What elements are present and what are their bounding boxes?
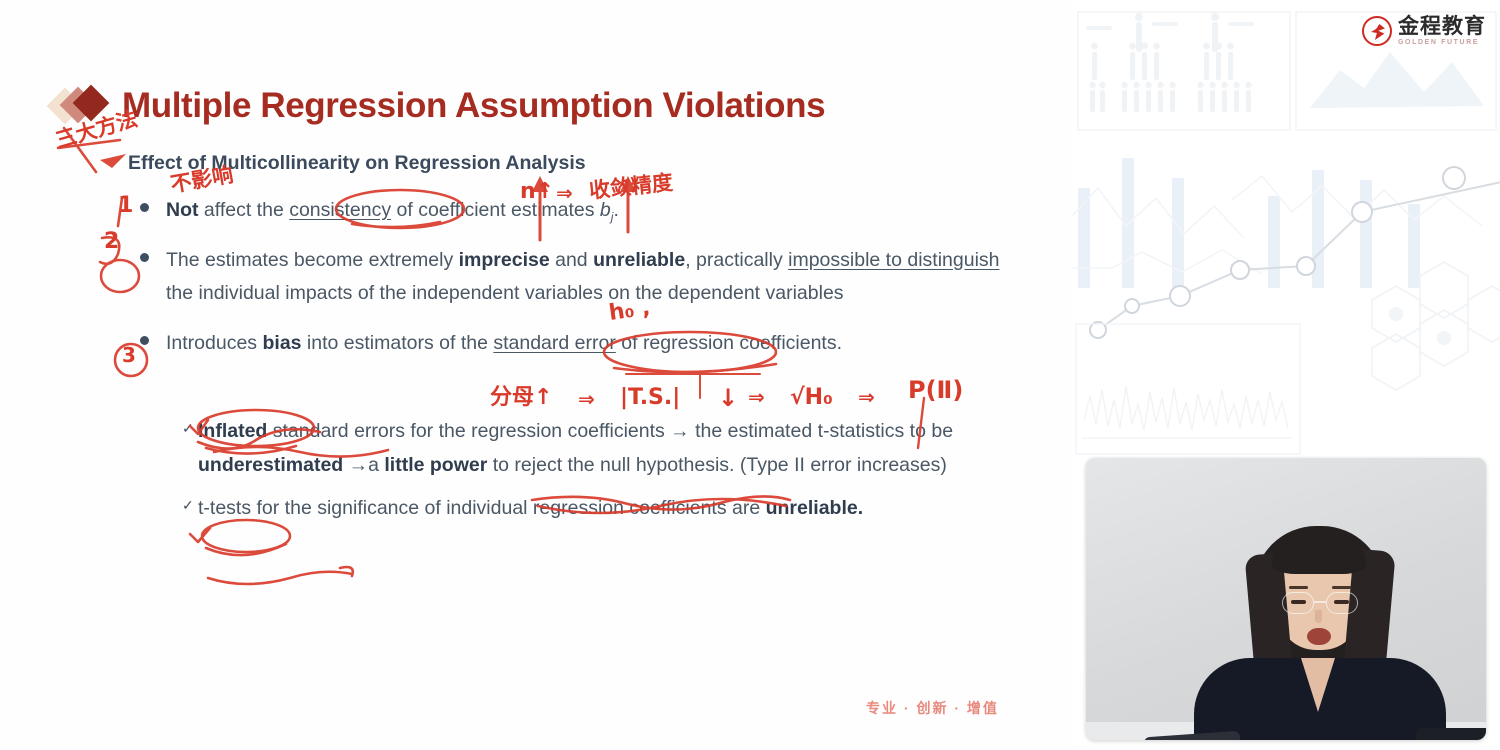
right-side-panel: 金程教育 GOLDEN FUTURE (1072, 0, 1500, 750)
sub-bullet-list: ✓Inflated standard errors for the regres… (198, 414, 998, 533)
presenter-eyebrow-left (1289, 586, 1308, 589)
presentation-slide: Multiple Regression Assumption Violation… (0, 0, 1072, 750)
title-diamond-bullet-icon (52, 88, 116, 124)
desk-object-right (1416, 728, 1486, 740)
footer-tagline: 专业 · 创新 · 增值 (866, 698, 999, 718)
presenter-fringe (1272, 534, 1366, 574)
bullet-dot-icon (140, 253, 149, 262)
section-heading: Effect of Multicollinearity on Regressio… (128, 152, 586, 175)
bullet-imprecise: The estimates become extremely imprecise… (140, 244, 1020, 311)
ann-num-2: 2 (104, 229, 119, 254)
presenter-mouth (1307, 628, 1331, 645)
ann-down-arrow: ↓ (718, 384, 738, 412)
subbullet-inflated-text: Inflated standard errors for the regress… (198, 414, 998, 483)
bullet-list: Not affect the consistency of coefficien… (140, 194, 1020, 376)
presenter-nose (1315, 610, 1322, 623)
ann-num-3: 3 (122, 343, 136, 367)
lecture-screenshot: Multiple Regression Assumption Violation… (0, 0, 1500, 750)
subbullet-ttests-text: t-tests for the significance of individu… (198, 491, 998, 525)
bullet-consistency: Not affect the consistency of coefficien… (140, 194, 1020, 228)
presenter-eye-right (1334, 600, 1349, 604)
ann-tstat: |T.S.| (620, 385, 680, 410)
ann-num-1: 1 (118, 193, 133, 218)
bullet-consistency-text: Not affect the consistency of coefficien… (166, 194, 1020, 228)
ann-arrow-4: ⇒ (858, 385, 875, 409)
brand-logo: 金程教育 GOLDEN FUTURE (1362, 16, 1486, 46)
background-infographic (1072, 0, 1500, 460)
subbullet-ttests: ✓t-tests for the significance of individ… (198, 491, 998, 525)
star-badge-icon (1362, 16, 1392, 46)
ann-arrow-2: ⇒ (578, 387, 595, 411)
presenter-eyebrow-right (1332, 586, 1351, 589)
ann-arrow-3: ⇒ (748, 385, 765, 409)
ann-type2-prob: P(Ⅱ) (908, 376, 963, 404)
check-icon: ✓ (182, 420, 194, 437)
presenter-glasses-bridge (1314, 601, 1326, 603)
bullet-dot-icon (140, 203, 149, 212)
presenter-eye-left (1291, 600, 1306, 604)
instructor-video-feed[interactable] (1086, 458, 1486, 740)
logo-english-name: GOLDEN FUTURE (1398, 39, 1486, 46)
bullet-bias-text: Introduces bias into estimators of the s… (166, 327, 1020, 361)
subbullet-inflated: ✓Inflated standard errors for the regres… (198, 414, 998, 483)
slide-title: Multiple Regression Assumption Violation… (122, 86, 825, 126)
ann-denominator: 分母↑ (490, 385, 552, 410)
bullet-imprecise-text: The estimates become extremely imprecise… (166, 244, 1020, 311)
bullet-bias: Introduces bias into estimators of the s… (140, 327, 1020, 361)
check-icon: ✓ (182, 497, 194, 514)
bullet-dot-icon (140, 336, 149, 345)
ann-accept-h0: √H₀ (790, 385, 833, 410)
logo-chinese-name: 金程教育 (1398, 16, 1486, 37)
